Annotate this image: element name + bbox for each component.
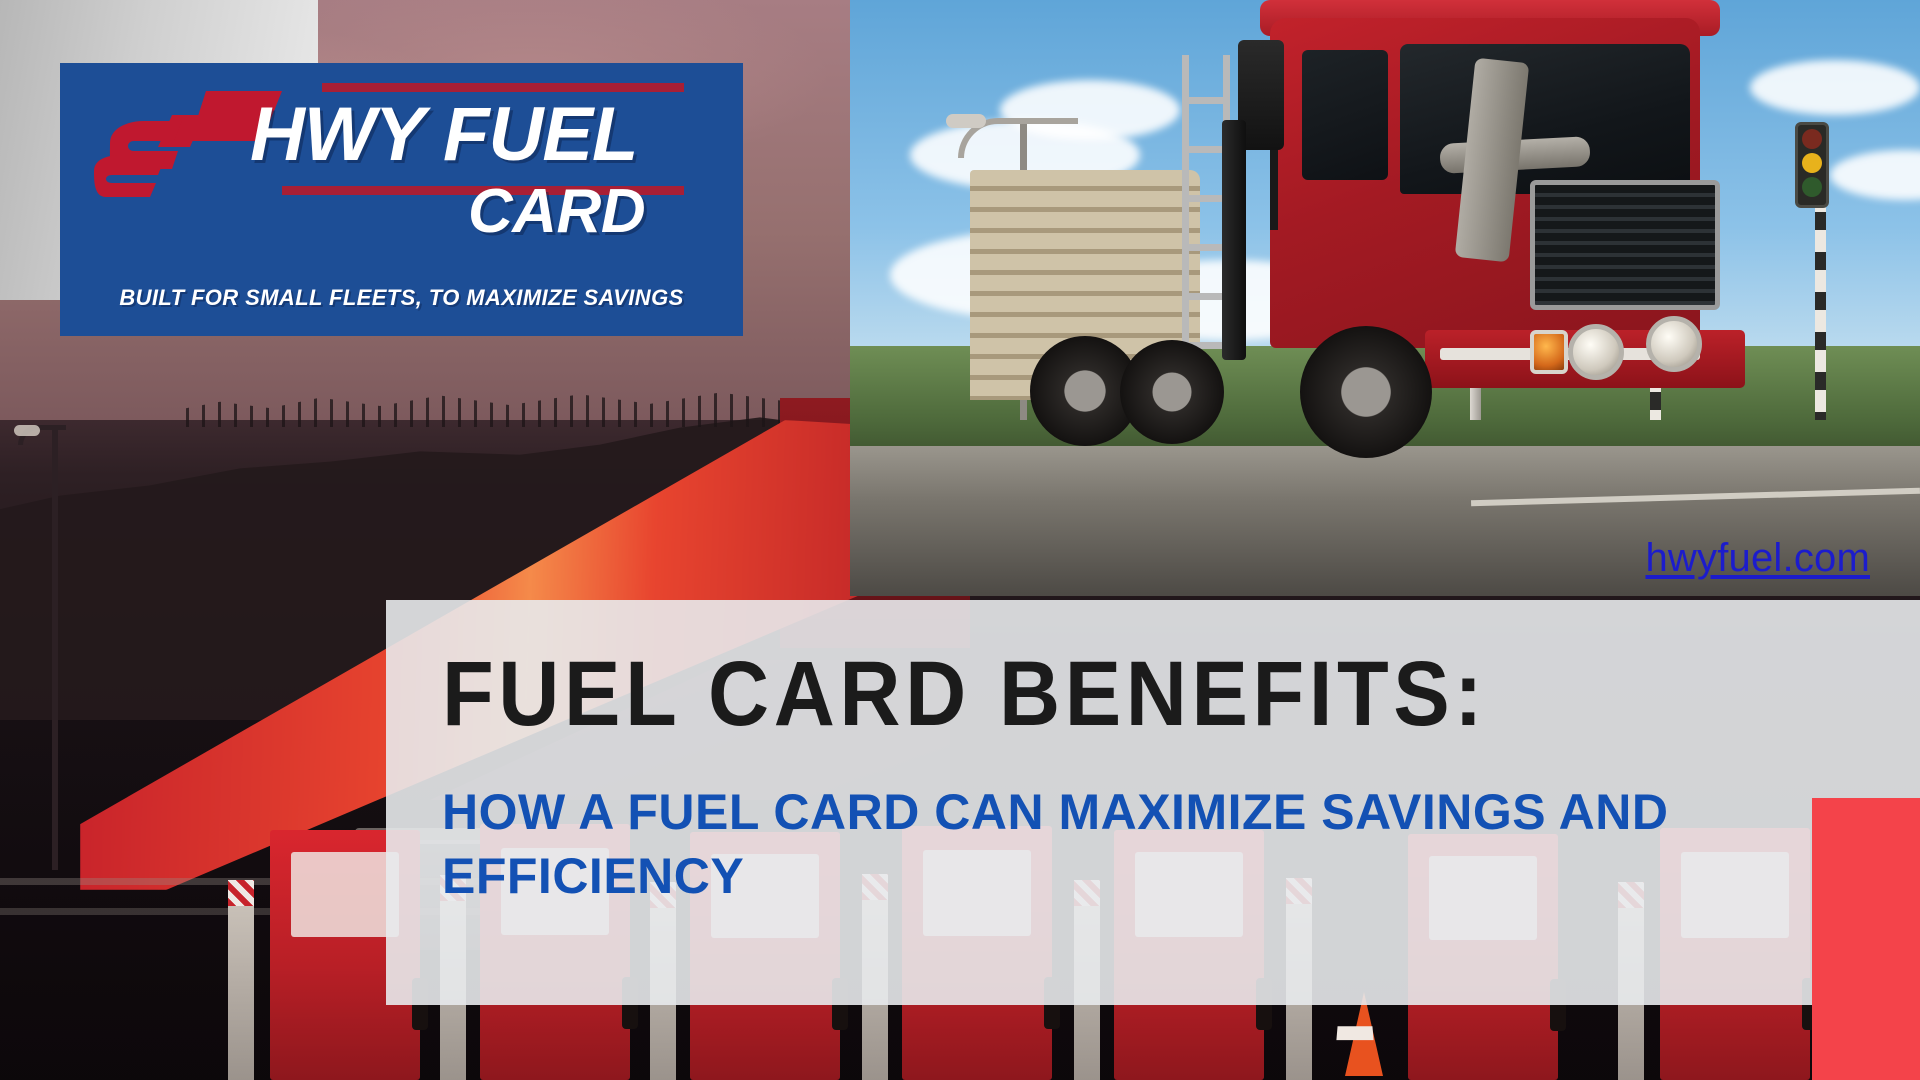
page-subtitle: HOW A FUEL CARD CAN MAXIMIZE SAVINGS AND…	[442, 780, 1862, 908]
exhaust-stack	[1222, 120, 1246, 360]
headline-panel: FUEL CARD BENEFITS: HOW A FUEL CARD CAN …	[386, 600, 1920, 1005]
truck-wheel	[1300, 326, 1432, 458]
red-accent-bar	[1812, 798, 1920, 1080]
radiator-grille	[1530, 180, 1720, 310]
logo-rule-top	[322, 83, 684, 92]
traffic-light-icon	[1795, 122, 1829, 208]
turn-signal-icon	[1530, 330, 1568, 374]
logo-tagline: BUILT FOR SMALL FLEETS, TO MAXIMIZE SAVI…	[60, 285, 743, 311]
semi-truck	[970, 0, 1750, 470]
truck-wheel	[1120, 340, 1224, 444]
page-title: FUEL CARD BENEFITS:	[442, 648, 1487, 740]
lamp-head-icon	[14, 425, 40, 436]
logo-secondary-text: CARD	[468, 181, 645, 243]
windshield	[1400, 44, 1690, 194]
truck-photo	[850, 0, 1920, 596]
logo-primary-text: HWY FUEL	[250, 97, 637, 173]
headlight-icon	[1646, 316, 1702, 372]
hwy-fuel-card-logo: HWY FUEL CARD BUILT FOR SMALL FLEETS, TO…	[60, 63, 743, 336]
bollard	[228, 880, 254, 1080]
side-window	[1302, 50, 1388, 180]
website-link[interactable]: hwyfuel.com	[1645, 536, 1870, 581]
headlight-icon	[1568, 324, 1624, 380]
traffic-cone-band	[1336, 1026, 1373, 1040]
